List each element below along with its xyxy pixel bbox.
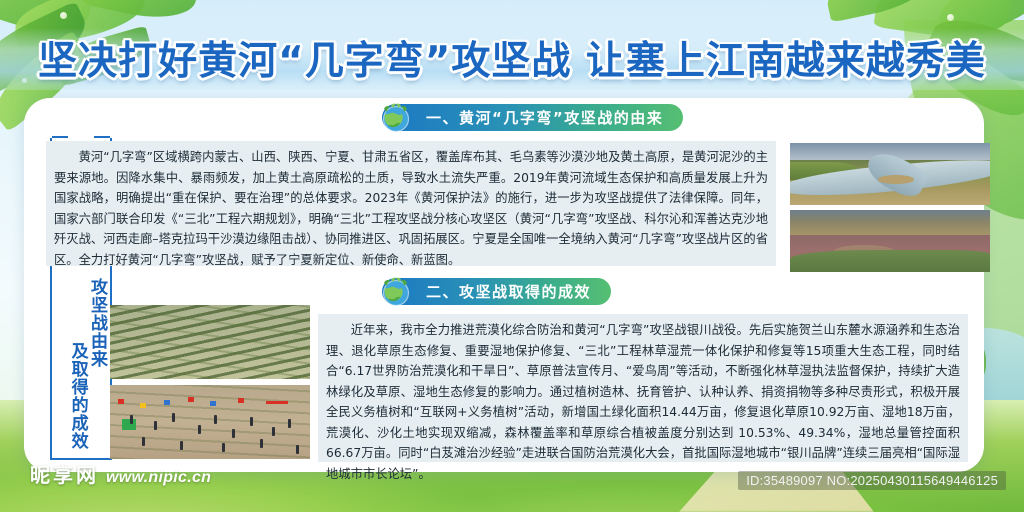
page-title: 坚决打好黄河“几字弯”攻坚战 让塞上江南越来越秀美 <box>0 30 1024 86</box>
photo-tree-rows <box>110 305 310 379</box>
section-2-body-text: 近年来，我市全力推进荒漠化综合防治和黄河“几字弯”攻坚战银川战役。先后实施贺兰山… <box>326 323 960 481</box>
photo-river-aerial-2 <box>790 210 990 272</box>
earth-globe-icon <box>378 100 414 136</box>
section-1-header: 一、黄河“几字弯”攻坚战的由来 <box>382 104 683 131</box>
section-2-header: 二、攻坚战取得的成效 <box>382 278 611 305</box>
site-logo: 昵享网 www.nipic.cn <box>30 459 211 488</box>
section-1-body: 黄河“几字弯”区域横跨内蒙古、山西、陕西、宁夏、甘肃五省区，覆盖库布其、毛乌素等… <box>46 141 776 266</box>
photo-river-aerial-1 <box>790 143 990 205</box>
photo-tree-planting <box>110 385 310 459</box>
site-logo-url: www.nipic.cn <box>106 469 211 488</box>
section-2-body: 近年来，我市全力推进荒漠化综合防治和黄河“几字弯”攻坚战银川战役。先后实施贺兰山… <box>318 314 968 462</box>
section-1-heading: 一、黄河“几字弯”攻坚战的由来 <box>382 104 683 131</box>
vertical-title-column-left: 及取得的成效 <box>68 342 86 450</box>
dew-drop-icon <box>60 12 67 19</box>
site-logo-cn: 昵享网 <box>30 459 99 488</box>
section-1-body-text: 黄河“几字弯”区域横跨内蒙古、山西、陕西、宁夏、甘肃五省区，覆盖库布其、毛乌素等… <box>54 150 768 267</box>
earth-globe-icon <box>378 274 414 310</box>
section-2-heading: 二、攻坚战取得的成效 <box>382 278 611 305</box>
dew-drop-icon <box>947 14 954 21</box>
image-id-badge: ID:35489097 NO:20250430115649446125 <box>738 471 1006 490</box>
